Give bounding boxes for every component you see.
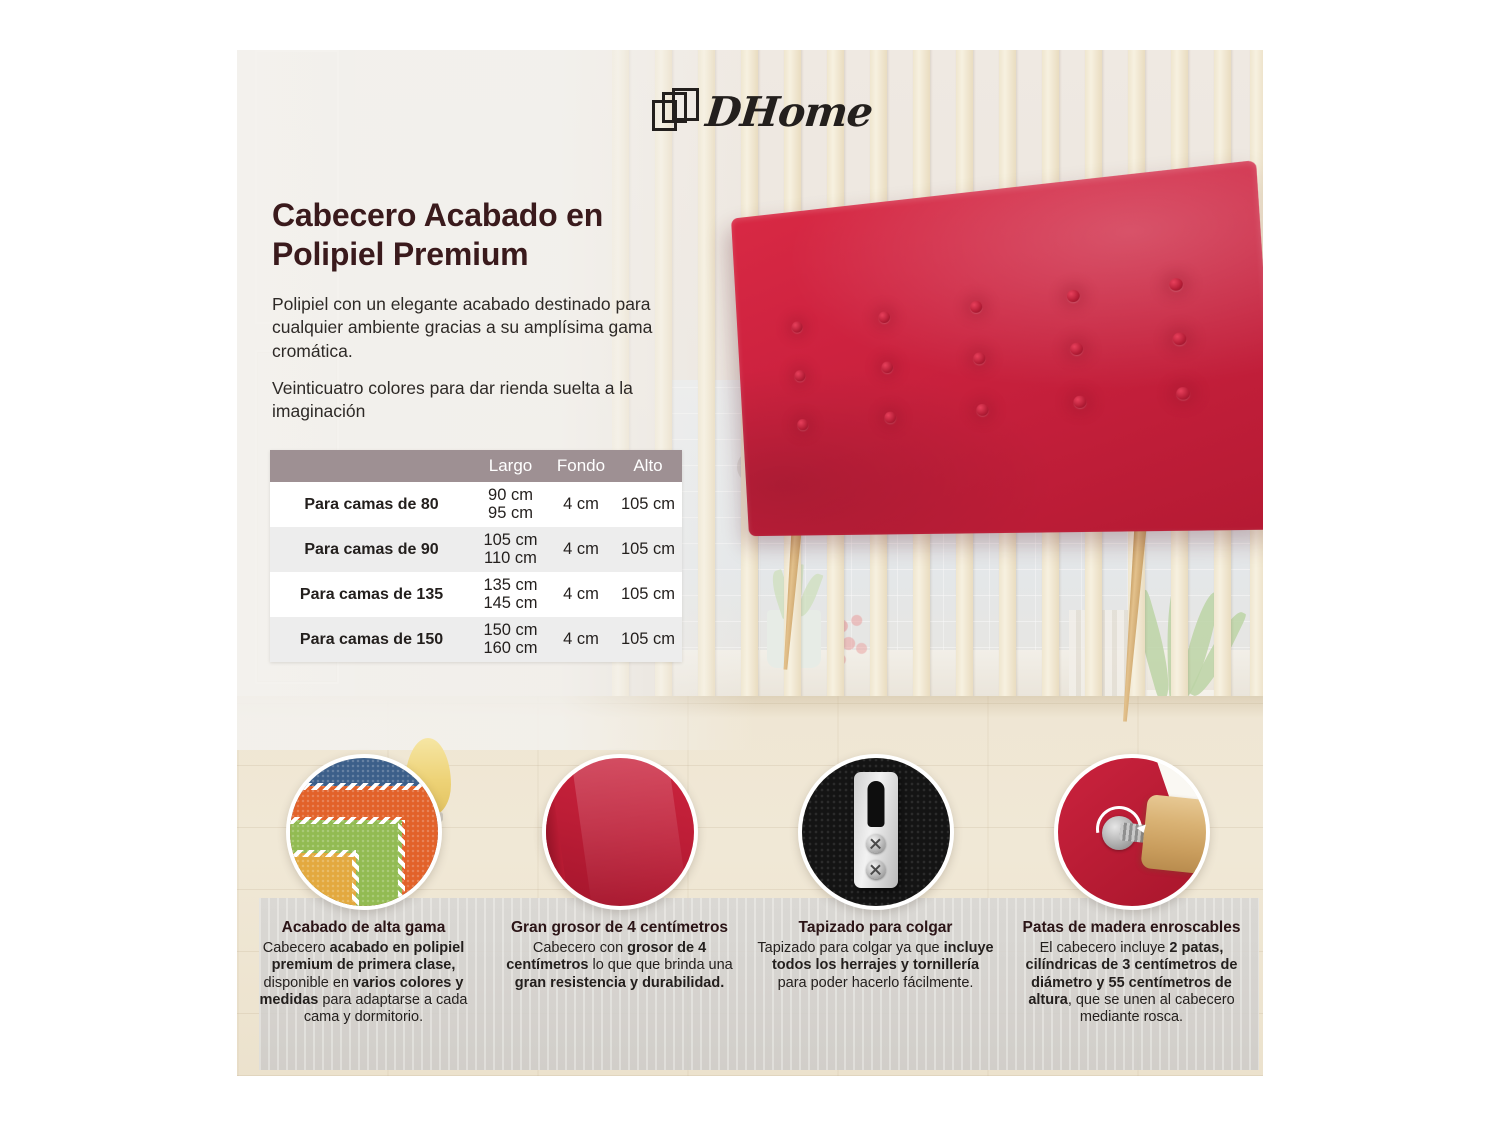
feature-body: Tapizado para colgar ya que incluye todo… (749, 940, 1002, 992)
cell-alto: 105 cm (614, 572, 682, 617)
cell-largo-min: 105 cm (483, 531, 537, 549)
headboard-panel (731, 160, 1263, 536)
table-row: Para camas de 80 90 cm 95 cm 4 cm 105 cm (270, 482, 682, 527)
feature-title: Gran grosor de 4 centímetros (493, 919, 746, 937)
cell-largo: 90 cm 95 cm (473, 482, 548, 527)
row-label: Para camas de 150 (270, 617, 473, 662)
cell-largo-max: 95 cm (488, 504, 533, 522)
cell-fondo: 4 cm (548, 527, 614, 572)
upholstery-thickness-icon (542, 754, 698, 910)
list-item: Acabado de alta gama Cabecero acabado en… (237, 754, 490, 1027)
intro-copy: Polipiel con un elegante acabado destina… (272, 293, 684, 437)
cell-fondo: 4 cm (548, 482, 614, 527)
brand-logo: DHome (652, 88, 872, 136)
cell-largo-max: 145 cm (483, 594, 537, 612)
feature-title: Patas de madera enroscables (1005, 919, 1258, 937)
cell-largo-min: 90 cm (488, 486, 533, 504)
screw-in-wooden-leg-icon (1054, 754, 1210, 910)
cell-largo-max: 160 cm (483, 639, 537, 657)
feature-body: Cabecero acabado en polipiel premium de … (237, 940, 490, 1027)
intro-paragraph-2: Veinticuatro colores para dar rienda sue… (272, 377, 684, 424)
table-header-row: Largo Fondo Alto (270, 450, 682, 482)
row-label: Para camas de 90 (270, 527, 473, 572)
cell-largo: 150 cm 160 cm (473, 617, 548, 662)
list-item: Gran grosor de 4 centímetros Cabecero co… (493, 754, 746, 992)
cell-alto: 105 cm (614, 482, 682, 527)
table-row: Para camas de 150 150 cm 160 cm 4 cm 105… (270, 617, 682, 662)
list-item: Patas de madera enroscables El cabecero … (1005, 754, 1258, 1027)
feature-body: El cabecero incluye 2 patas, cilíndricas… (1005, 940, 1258, 1027)
column-header-largo: Largo (473, 450, 548, 482)
cell-alto: 105 cm (614, 617, 682, 662)
table-row: Para camas de 90 105 cm 110 cm 4 cm 105 … (270, 527, 682, 572)
cell-alto: 105 cm (614, 527, 682, 572)
brand-name: DHome (703, 88, 874, 136)
column-header-fondo: Fondo (548, 450, 614, 482)
cell-largo: 105 cm 110 cm (473, 527, 548, 572)
cell-largo-max: 110 cm (484, 549, 537, 567)
wall-bracket-icon (798, 754, 954, 910)
dimensions-table: Largo Fondo Alto Para camas de 80 90 cm … (270, 450, 682, 662)
feature-body: Cabecero con grosor de 4 centímetros lo … (493, 940, 746, 992)
feature-list: Acabado de alta gama Cabecero acabado en… (237, 746, 1263, 1076)
feature-title: Tapizado para colgar (749, 919, 1002, 937)
product-infographic: DHome Cabecero Acabado en Polipiel Premi… (237, 50, 1263, 1076)
intro-paragraph-1: Polipiel con un elegante acabado destina… (272, 293, 684, 363)
cell-largo: 135 cm 145 cm (473, 572, 548, 617)
row-label: Para camas de 80 (270, 482, 473, 527)
cell-largo-min: 135 cm (483, 576, 537, 594)
overlapping-squares-icon (652, 88, 696, 136)
page-title: Cabecero Acabado en Polipiel Premium (272, 196, 692, 274)
fabric-swatches-icon (286, 754, 442, 910)
table-row: Para camas de 135 135 cm 145 cm 4 cm 105… (270, 572, 682, 617)
cell-largo-min: 150 cm (483, 621, 537, 639)
cell-fondo: 4 cm (548, 617, 614, 662)
product-image (727, 170, 1247, 690)
cell-fondo: 4 cm (548, 572, 614, 617)
feature-title: Acabado de alta gama (237, 919, 490, 937)
list-item: Tapizado para colgar Tapizado para colga… (749, 754, 1002, 992)
row-label: Para camas de 135 (270, 572, 473, 617)
column-header-alto: Alto (614, 450, 682, 482)
